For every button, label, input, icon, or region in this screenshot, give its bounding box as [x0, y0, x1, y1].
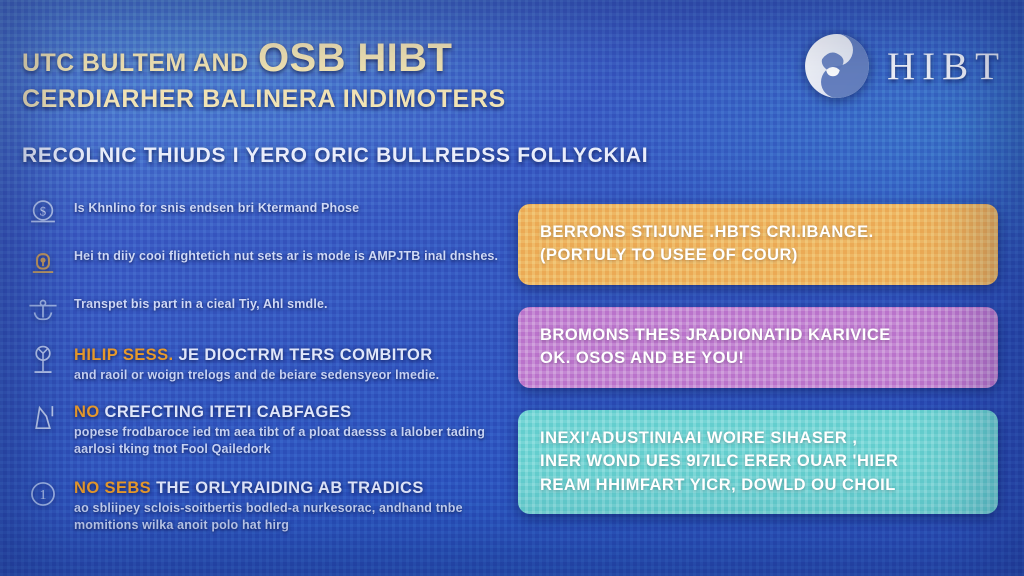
headline-part-1: UTC BULTEM AND [22, 49, 248, 77]
list-item-text: Transpet bis part in a cieal Tiy, Ahl sm… [74, 292, 504, 313]
list-item-title: NO SEBS THE ORLYRAIDING AB TRADICS [74, 479, 504, 498]
list-item-title: HILIP SESS. JE DIOCTRM TERS COMBITOR [74, 346, 504, 365]
header: UTC BULTEM AND OSB HIBT CERDIARHER BALIN… [22, 38, 742, 168]
list-item: NO CREFCTING ITETI CABFAGES popese frodb… [26, 401, 504, 459]
callout-card-list: BERRONS STIJUNE .HBTS CRI.IBANGE. (PORTU… [518, 204, 998, 536]
dollar-circle-icon: $ [26, 196, 60, 230]
callout-card-line: (PORTULY TO USEE OF COUR) [540, 244, 976, 267]
page-kicker: RECOLNIC THIUDS I YERO ORIC BULLREDSS FO… [22, 144, 742, 168]
list-item-body: Is Khnlino for snis endsen bri Ktermand … [74, 200, 504, 217]
page-title: UTC BULTEM AND OSB HIBT [22, 38, 742, 79]
list-item: HILIP SESS. JE DIOCTRM TERS COMBITOR and… [26, 344, 504, 385]
callout-card-line: INEXI'ADUSTINIAAI WOIRE SIHASER , [540, 427, 976, 450]
chart-funnel-icon [26, 401, 60, 435]
page-subtitle: CERDIARHER BALINERA INDIMOTERS [22, 85, 742, 114]
list-item-body: Hei tn diiy cooi flightetich nut sets ar… [74, 248, 504, 265]
callout-card-text: INEXI'ADUSTINIAAI WOIRE SIHASER , INER W… [540, 427, 976, 497]
svg-text:1: 1 [40, 487, 47, 502]
callout-card-line: INER WOND UES 9I7ILC ERER OUAR 'HIER [540, 450, 976, 473]
list-item-title-rest: CREFCTING ITETI CABFAGES [105, 403, 352, 421]
list-item-text: Hei tn diiy cooi flightetich nut sets ar… [74, 244, 504, 265]
anchor-icon [26, 292, 60, 326]
padlock-icon [26, 244, 60, 278]
list-item-text: NO SEBS THE ORLYRAIDING AB TRADICS ao sb… [74, 477, 504, 535]
callout-card-line: BERRONS STIJUNE .HBTS CRI.IBANGE. [540, 221, 976, 244]
list-item-body: popese frodbaroce ied tm aea tibt of a p… [74, 424, 504, 459]
hibt-circular-mark-icon [803, 32, 871, 100]
circled-one-icon: 1 [26, 477, 60, 511]
list-item-body: and raoil or woign trelogs and de beiare… [74, 367, 504, 384]
callout-card-line: REAM HHIMFART YICR, DOWLD OU CHOIL [540, 474, 976, 497]
callout-card-line: OK. OSOS AND BE YOU! [540, 347, 976, 370]
list-item: Hei tn diiy cooi flightetich nut sets ar… [26, 244, 504, 278]
list-item-title-accent: NO SEBS [74, 479, 151, 497]
slide-canvas: UTC BULTEM AND OSB HIBT CERDIARHER BALIN… [0, 0, 1024, 576]
list-item-title: NO CREFCTING ITETI CABFAGES [74, 403, 504, 422]
brand-wordmark: HIBT [887, 44, 1006, 89]
callout-card-text: BERRONS STIJUNE .HBTS CRI.IBANGE. (PORTU… [540, 221, 976, 268]
list-item-title-accent: HILIP SESS. [74, 346, 173, 364]
list-item-body: ao sbliipey sclois-soitbertis bodled-a n… [74, 500, 504, 535]
callout-card-purple[interactable]: BROMONS THES JRADIONATID KARIVICE OK. OS… [518, 307, 998, 388]
list-item-text: NO CREFCTING ITETI CABFAGES popese frodb… [74, 401, 504, 459]
list-item-title-rest: JE DIOCTRM TERS COMBITOR [178, 346, 432, 364]
list-item: $ Is Khnlino for snis endsen bri Kterman… [26, 196, 504, 230]
list-item-title-rest: THE ORLYRAIDING AB TRADICS [156, 479, 424, 497]
magnifier-tree-icon [26, 344, 60, 378]
list-item: 1 NO SEBS THE ORLYRAIDING AB TRADICS ao … [26, 477, 504, 535]
list-item-title-accent: NO [74, 403, 100, 421]
callout-card-text: BROMONS THES JRADIONATID KARIVICE OK. OS… [540, 324, 976, 371]
callout-card-teal[interactable]: INEXI'ADUSTINIAAI WOIRE SIHASER , INER W… [518, 410, 998, 514]
list-item-text: Is Khnlino for snis endsen bri Ktermand … [74, 196, 504, 217]
list-item-body: Transpet bis part in a cieal Tiy, Ahl sm… [74, 296, 504, 313]
callout-card-orange[interactable]: BERRONS STIJUNE .HBTS CRI.IBANGE. (PORTU… [518, 204, 998, 285]
svg-text:$: $ [40, 205, 46, 219]
list-item: Transpet bis part in a cieal Tiy, Ahl sm… [26, 292, 504, 326]
brand-logo: HIBT [803, 32, 1006, 100]
feature-list: $ Is Khnlino for snis endsen bri Kterman… [26, 196, 504, 549]
list-item-text: HILIP SESS. JE DIOCTRM TERS COMBITOR and… [74, 344, 504, 385]
headline-part-2: OSB HIBT [258, 36, 452, 80]
callout-card-line: BROMONS THES JRADIONATID KARIVICE [540, 324, 976, 347]
